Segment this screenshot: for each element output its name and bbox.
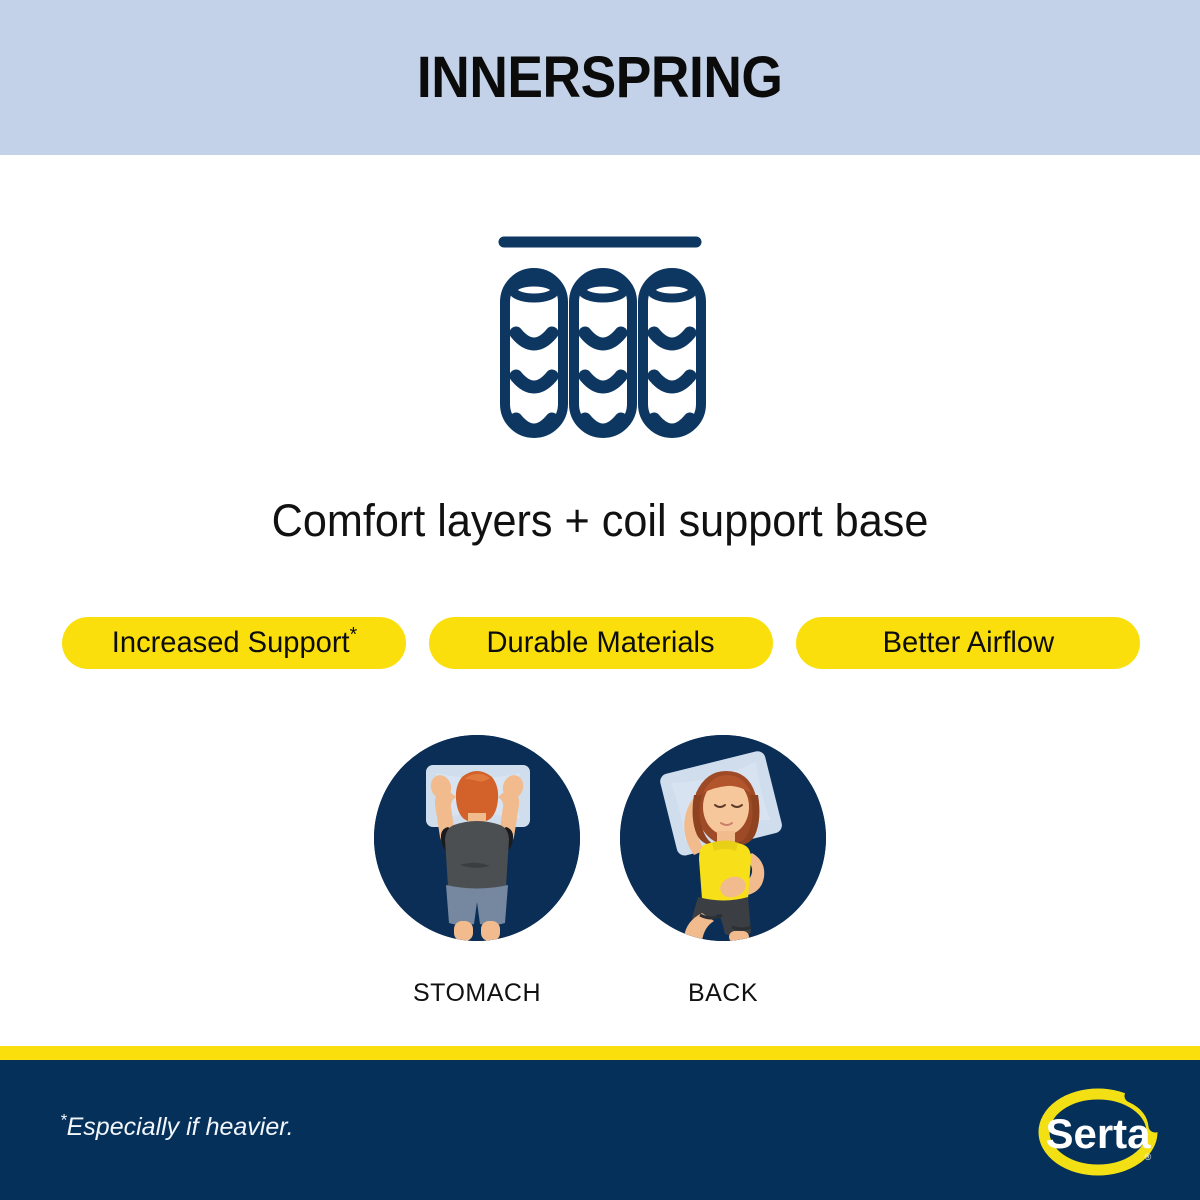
feature-pill-row: Increased Support* Durable Materials Bet…: [62, 617, 1140, 669]
infographic-page: INNERSPRING: [0, 0, 1200, 1200]
sleeper-position-back: BACK: [600, 735, 846, 1008]
footnote-marker: *: [349, 624, 357, 646]
sleeper-caption-stomach: STOMACH: [354, 979, 600, 1008]
page-title: INNERSPRING: [417, 44, 783, 111]
feature-pill-label: Increased Support*: [111, 626, 356, 660]
feature-pill-label: Durable Materials: [487, 626, 715, 660]
back-sleeper-illustration: [620, 735, 826, 941]
feature-pill-label: Better Airflow: [882, 626, 1053, 660]
footnote-text: Especially if heavier.: [67, 1113, 294, 1141]
feature-pill-increased-support[interactable]: Increased Support*: [62, 617, 406, 669]
stomach-sleeper-illustration: [374, 735, 580, 941]
feature-pill-better-airflow[interactable]: Better Airflow: [796, 617, 1140, 669]
header-band: INNERSPRING: [0, 0, 1200, 155]
footer-accent-rule: [0, 1046, 1200, 1060]
coil-stack-icon: [490, 225, 710, 450]
footnote-marker: *: [60, 1111, 67, 1130]
sleeper-position-stomach: STOMACH: [354, 735, 600, 1008]
registered-trademark-mark: ®: [1145, 1152, 1152, 1162]
subtitle-text: Comfort layers + coil support base: [24, 495, 1176, 547]
footnote: *Especially if heavier.: [60, 1113, 294, 1142]
feature-pill-durable-materials[interactable]: Durable Materials: [429, 617, 773, 669]
sleeper-caption-back: BACK: [600, 979, 846, 1008]
sleeper-positions-row: STOMACH: [0, 735, 1200, 1025]
serta-wordmark: Serta: [1045, 1110, 1151, 1157]
serta-logo[interactable]: Serta ®: [1035, 1082, 1165, 1182]
